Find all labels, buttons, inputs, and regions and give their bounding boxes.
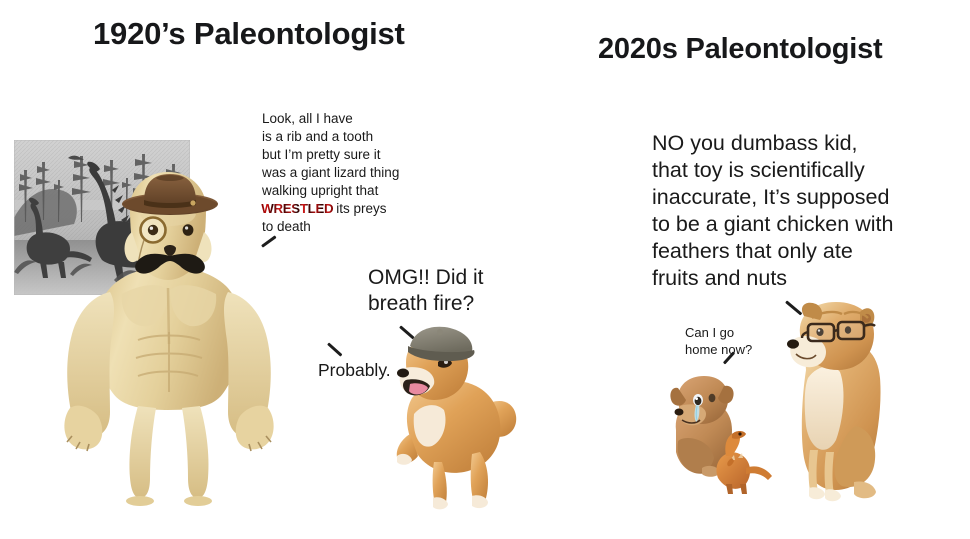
speech-kid-right: Can I go home now? (685, 325, 785, 359)
character-crying-puppy-with-toy (668, 372, 780, 494)
character-cheems-kid-with-cap (388, 318, 528, 513)
speech-line: but I’m pretty sure it (262, 147, 381, 162)
glasses-icon (802, 322, 875, 341)
character-shiba-scientist-with-glasses (782, 300, 900, 508)
speech-line: feathers that only ate (652, 239, 853, 263)
speech-line: that toy is scientifically (652, 158, 865, 182)
panel-title-left: 1920’s Paleontologist (93, 16, 405, 52)
panel-title-right: 2020s Paleontologist (598, 33, 883, 66)
speech-line: was a giant lizard thing (262, 165, 399, 180)
speech-line: home now? (685, 342, 752, 357)
speech-line: Can I go (685, 325, 734, 340)
speech-1920-scientist: Look, all I have is a rib and a tooth bu… (262, 110, 442, 236)
pointer-tick-probably (327, 342, 343, 356)
speech-kid-left: OMG!! Did it breath fire? (368, 265, 533, 318)
speech-line: is a rib and a tooth (262, 129, 373, 144)
meme-canvas: 1920’s Paleontologist (0, 0, 970, 539)
speech-line: its preys (333, 201, 387, 216)
speech-line: OMG!! Did it (368, 266, 484, 289)
emphasis-word-wrestled: WRESTLED (261, 200, 333, 217)
speech-line: to death (262, 219, 311, 234)
speech-line: NO you dumbass kid, (652, 131, 858, 155)
speech-2020-scientist: NO you dumbass kid, that toy is scientif… (652, 130, 927, 292)
character-buff-doge-paleontologist (52, 168, 282, 508)
speech-line: inaccurate, It’s supposed (652, 185, 889, 209)
speech-line: to be a giant chicken with (652, 212, 893, 236)
speech-answer-probably: Probably. (318, 360, 391, 381)
speech-line: Look, all I have (262, 111, 353, 126)
speech-line: breath fire? (368, 292, 474, 315)
speech-line: fruits and nuts (652, 266, 787, 290)
speech-line: walking upright that (262, 183, 378, 198)
